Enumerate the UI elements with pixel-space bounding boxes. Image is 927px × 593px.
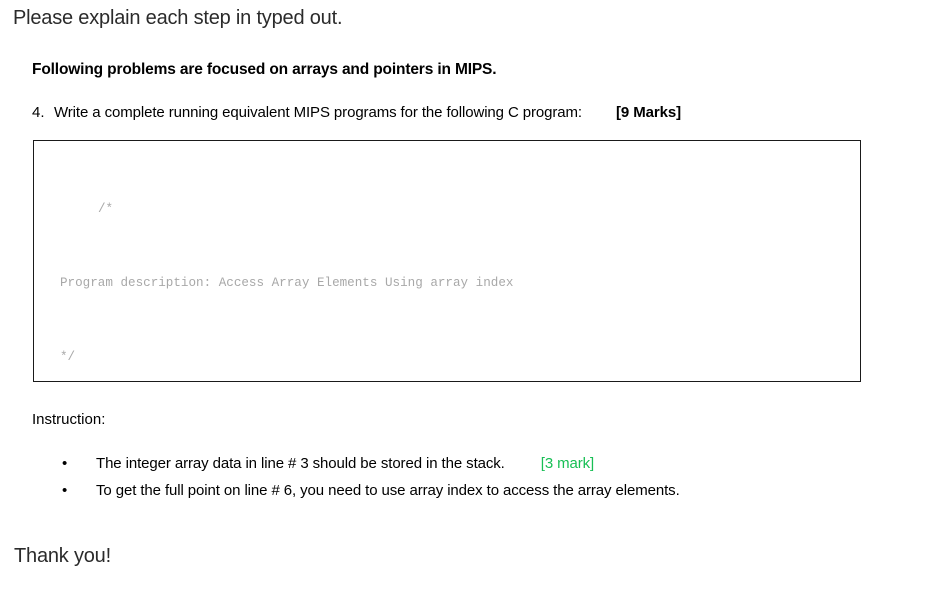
code-row-blockcomment-body: Program description: Access Array Elemen… bbox=[60, 274, 544, 293]
closing-text: Thank you! bbox=[14, 543, 111, 569]
bullet-icon: • bbox=[62, 450, 72, 477]
code-listing: /* Program description: Access Array Ele… bbox=[60, 144, 544, 382]
block-comment-open: /* bbox=[98, 202, 113, 216]
list-item: •The integer array data in line # 3 shou… bbox=[62, 450, 882, 477]
bullet-text-2: To get the full point on line # 6, you n… bbox=[96, 477, 680, 504]
instruction-label: Instruction: bbox=[32, 410, 105, 430]
code-row-blockcomment-close: */ bbox=[60, 348, 544, 367]
bullet-mark-1: [3 mark] bbox=[541, 455, 594, 472]
block-comment-close: */ bbox=[60, 350, 75, 364]
block-comment-body: Program description: Access Array Elemen… bbox=[60, 276, 513, 290]
code-block: /* Program description: Access Array Ele… bbox=[33, 140, 861, 382]
section-heading: Following problems are focused on arrays… bbox=[32, 60, 496, 80]
question-line: 4.Write a complete running equivalent MI… bbox=[32, 102, 862, 123]
bullet-text-1: The integer array data in line # 3 shoul… bbox=[96, 450, 505, 477]
question-marks: [9 Marks] bbox=[616, 104, 681, 121]
bullet-icon: • bbox=[62, 477, 72, 504]
question-text: Write a complete running equivalent MIPS… bbox=[54, 104, 582, 121]
list-item: •To get the full point on line # 6, you … bbox=[62, 477, 882, 504]
question-number: 4. bbox=[32, 102, 54, 123]
page-prompt: Please explain each step in typed out. bbox=[13, 5, 342, 31]
code-row-blockcomment-open: /* bbox=[60, 200, 544, 219]
instruction-list: •The integer array data in line # 3 shou… bbox=[62, 450, 882, 504]
